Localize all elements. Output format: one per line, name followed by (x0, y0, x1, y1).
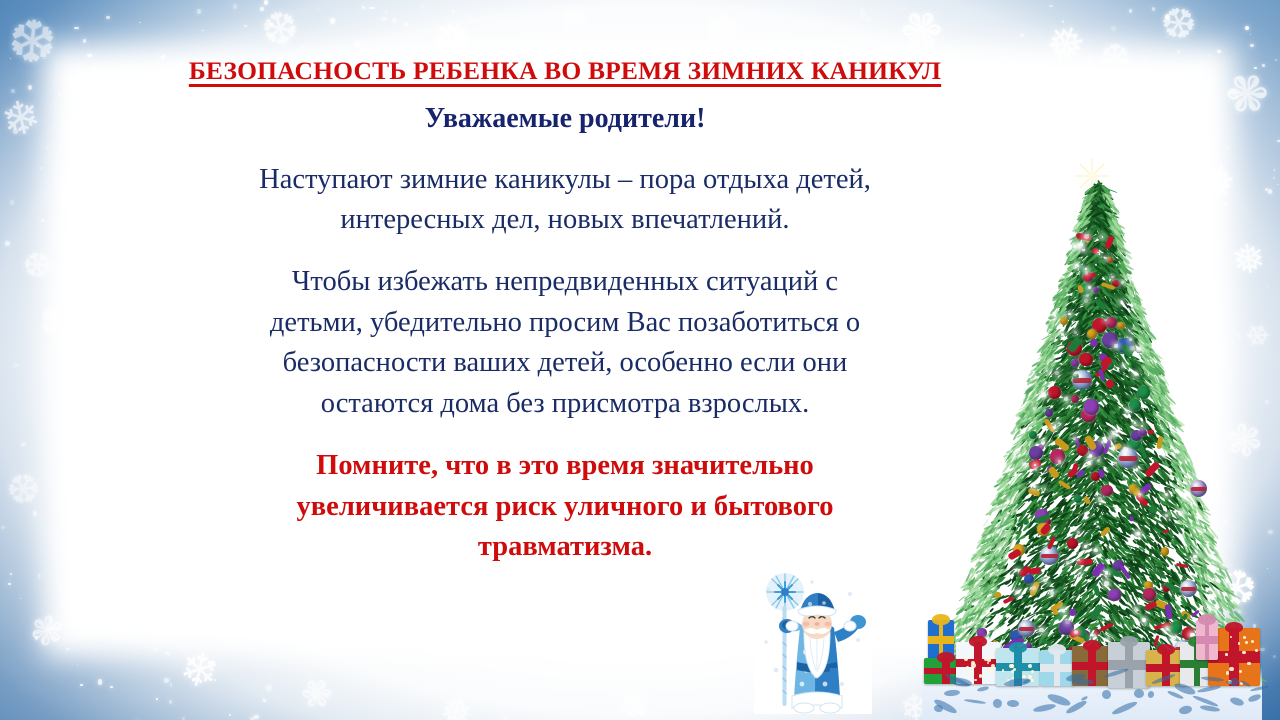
page-title: БЕЗОПАСНОСТЬ РЕБЕНКА ВО ВРЕМЯ ЗИМНИХ КАН… (60, 56, 1070, 85)
ded-moroz-icon (754, 566, 872, 714)
paragraph-request: Чтобы избежать непредвиденных ситуаций с… (135, 262, 995, 424)
gift-box (1196, 620, 1218, 660)
poster-subtitle: Уважаемые родители! (60, 103, 1070, 135)
paragraph-line: Чтобы избежать непредвиденных ситуаций с (135, 262, 995, 302)
warning-text: Помните, что в это время значительно уве… (165, 446, 965, 567)
christmas-tree-icon (922, 150, 1262, 720)
paragraph-line: детьми, убедительно просим Вас позаботит… (135, 303, 995, 343)
gift-box (1108, 642, 1150, 688)
paragraph-line: интересных дел, новых впечатлений. (115, 200, 1015, 240)
paragraph-line: безопасности ваших детей, особенно если … (135, 343, 995, 383)
paragraph-line: Наступают зимние каникулы – пора отдыха … (115, 160, 1015, 200)
warning-line: травматизма. (165, 527, 965, 567)
winter-safety-poster: ❆❄❃❆❆❆❆❃❄❃❆❅❅❃❃❅❆❃❅❅❃❃❃❆❅❆❄❃❅❄❃❃❄❃ ❆❃❅❃❅… (0, 0, 1280, 720)
warning-line: увеличивается риск уличного и бытового (165, 487, 965, 527)
paragraph-intro: Наступают зимние каникулы – пора отдыха … (115, 160, 1015, 241)
paragraph-line: остаются дома без присмотра взрослых. (135, 384, 995, 424)
warning-line: Помните, что в это время значительно (165, 446, 965, 486)
poster-content: БЕЗОПАСНОСТЬ РЕБЕНКА ВО ВРЕМЯ ЗИМНИХ КАН… (60, 56, 1070, 568)
gift-boxes-icon (922, 150, 1262, 720)
